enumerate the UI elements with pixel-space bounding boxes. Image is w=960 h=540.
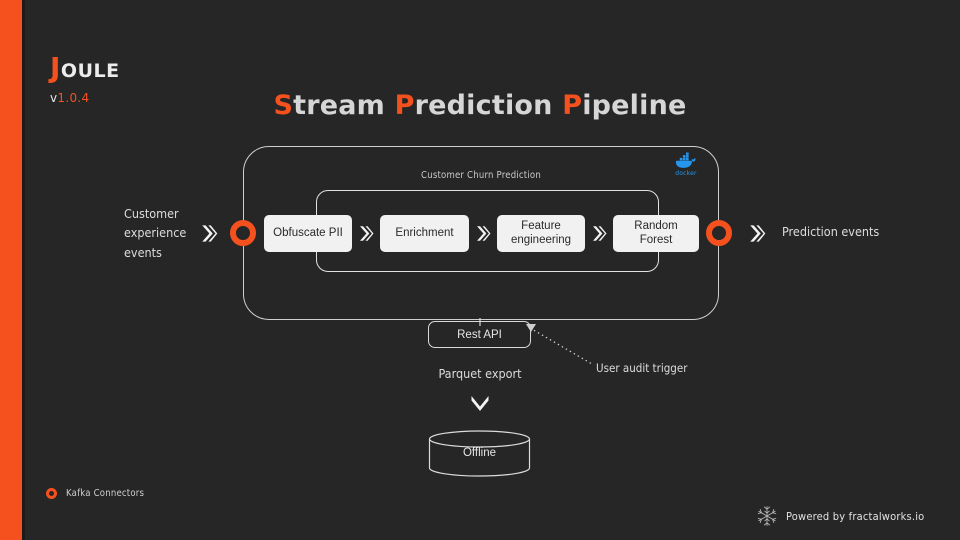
parquet-export-label: Parquet export (400, 366, 560, 381)
powered-by-label: Powered by fractalworks.io (786, 510, 924, 523)
stage-enrichment[interactable]: Enrichment (380, 215, 469, 252)
pipeline-container-label: Customer Churn Prediction (243, 170, 719, 181)
double-chevron-down-icon (468, 394, 492, 418)
left-accent-bar (0, 0, 22, 540)
kafka-connector-ring-icon (46, 488, 57, 499)
user-audit-trigger-line (520, 322, 604, 370)
offline-datastore-label: Offline (428, 447, 531, 459)
docker-label: docker (675, 170, 696, 177)
brand-name-rest: OULE (61, 60, 120, 82)
fractalworks-logo-icon (756, 505, 778, 527)
title-word3-rest: ipeline (582, 90, 686, 121)
kafka-connector-ring-output[interactable] (706, 220, 732, 246)
kafka-connector-ring-input[interactable] (230, 220, 256, 246)
title-word3-cap: P (562, 90, 582, 121)
stage-separator-icon-1 (352, 225, 380, 242)
input-arrow-icon (196, 220, 222, 246)
accent-divider (22, 0, 25, 540)
brand-name: JOULE (50, 54, 120, 82)
slide-canvas: JOULE v1.0.4 Stream Prediction Pipeline … (0, 0, 960, 540)
docker-whale-icon (675, 152, 697, 169)
double-chevron-right-icon (476, 225, 491, 242)
input-events-label: Customer experience events (124, 204, 204, 262)
user-audit-trigger-label: User audit trigger (596, 361, 688, 375)
rest-api-node[interactable]: Rest API (428, 321, 531, 348)
docker-badge: docker (668, 152, 704, 182)
title-word2-rest: rediction (415, 90, 553, 121)
brand-initial: J (50, 51, 61, 84)
output-arrow-icon (744, 220, 770, 246)
title-word2-cap: P (395, 90, 415, 121)
stage-separator-icon-2 (469, 225, 497, 242)
double-chevron-right-icon (359, 225, 374, 242)
title-word1-rest: tream (293, 90, 385, 121)
page-title: Stream Prediction Pipeline (0, 90, 960, 121)
footer-branding: Powered by fractalworks.io (756, 505, 924, 527)
stage-obfuscate-pii[interactable]: Obfuscate PII (264, 215, 352, 252)
legend-kafka-connectors: Kafka Connectors (46, 488, 144, 499)
pipeline-stage-row: Obfuscate PII Enrichment Feature enginee… (264, 215, 698, 252)
stage-random-forest[interactable]: Random Forest (613, 215, 699, 252)
parquet-flow-arrow-icon (468, 394, 492, 418)
double-chevron-right-icon (592, 225, 607, 242)
output-events-label: Prediction events (782, 222, 942, 241)
stage-separator-icon-3 (585, 225, 613, 242)
legend-kafka-label: Kafka Connectors (66, 488, 144, 499)
stage-feature-engineering[interactable]: Feature engineering (497, 215, 585, 252)
title-word1-cap: S (273, 90, 293, 121)
double-chevron-right-icon (749, 224, 766, 243)
double-chevron-right-icon (201, 224, 218, 243)
